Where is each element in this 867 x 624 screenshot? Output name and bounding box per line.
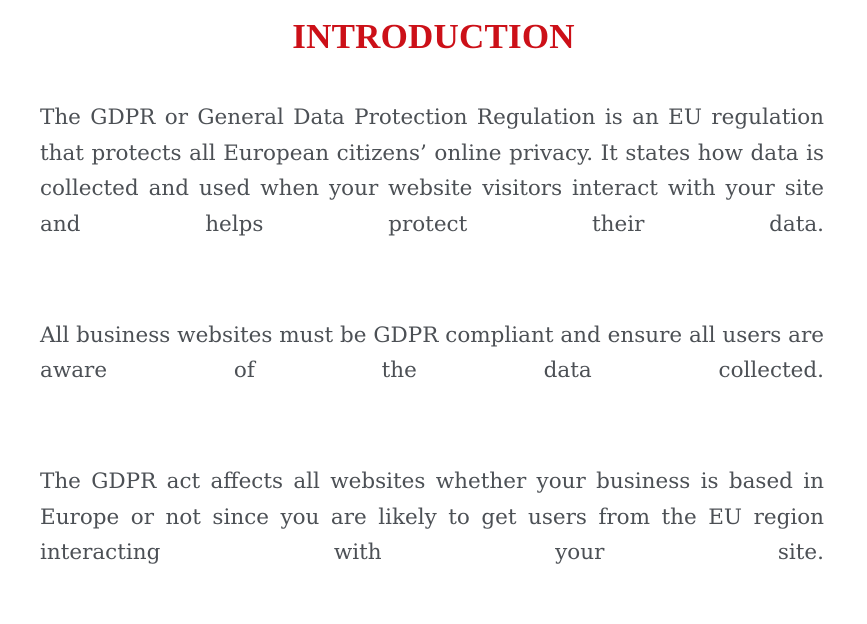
body-paragraph-2: All business websites must be GDPR compl… bbox=[40, 318, 824, 425]
page-title: INTRODUCTION bbox=[0, 17, 867, 57]
body-paragraph-3: The GDPR act affects all websites whethe… bbox=[40, 464, 824, 606]
document-page: INTRODUCTION The GDPR or General Data Pr… bbox=[0, 0, 867, 624]
document-body: The GDPR or General Data Protection Regu… bbox=[40, 100, 824, 624]
body-paragraph-1: The GDPR or General Data Protection Regu… bbox=[40, 100, 824, 278]
